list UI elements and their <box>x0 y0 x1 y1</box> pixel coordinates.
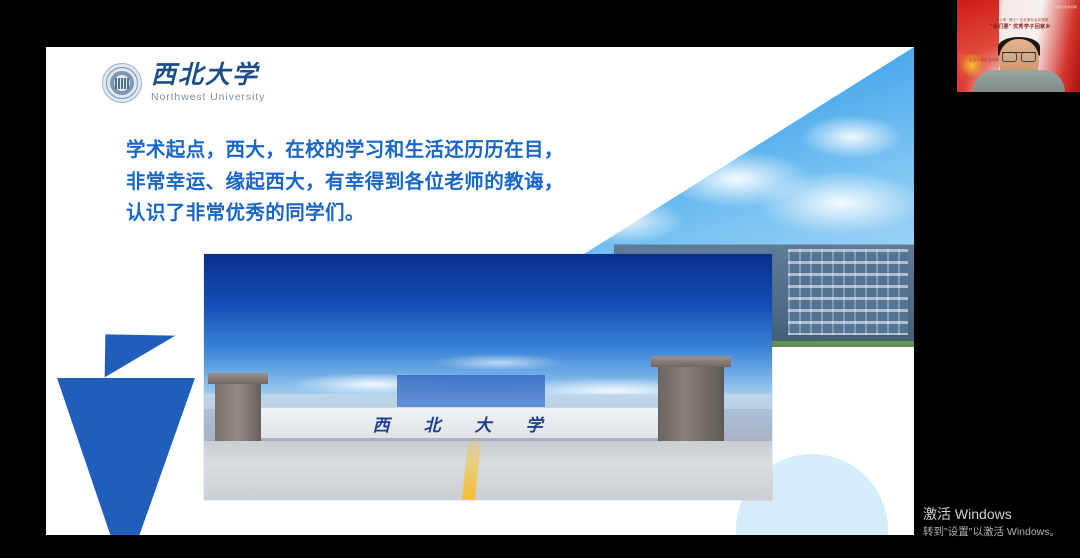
banner-subtitle: 广东公司 "博士+"企业家社会实践团 <box>992 18 1048 22</box>
gate-wall-calligraphy: 西 北 大 学 <box>238 408 681 439</box>
photo-background-building <box>397 375 545 409</box>
northwest-university-seal-icon <box>102 63 142 103</box>
photo-gate-wall: 西 北 大 学 <box>238 407 681 439</box>
gate-char-4: 学 <box>526 411 547 436</box>
gate-char-3: 大 <box>475 411 496 436</box>
university-logo: 西北大学 Northwest University <box>102 63 265 103</box>
campus-gate-photo: 西 北 大 学 <box>204 254 772 500</box>
gate-char-1: 西 <box>373 411 394 436</box>
body-line-1: 学术起点，西大，在校的学习和生活还历历在目， <box>126 135 686 167</box>
watermark-line-2: 转到"设置"以激活 Windows。 <box>923 525 1060 540</box>
windows-activation-watermark: 激活 Windows 转到"设置"以激活 Windows。 <box>923 505 1060 540</box>
presentation-slide[interactable]: 西北大学 Northwest University 学术起点，西大，在校的学习和… <box>46 47 914 535</box>
watermark-line-1: 激活 Windows <box>923 505 1060 523</box>
blue-triangle-large <box>57 378 195 535</box>
banner-title: 广东公司 "博士+"企业家社会实践团 "我们要" 优秀学子回家乡 <box>968 17 1073 33</box>
banner-title-main: "我们要" 优秀学子回家乡 <box>990 24 1051 30</box>
presenter-video-tile[interactable]: 中国石化新闻网 广东公司 "博士+"企业家社会实践团 "我们要" 优秀学子回家乡… <box>957 0 1080 92</box>
screen-share-stage: 西北大学 Northwest University 学术起点，西大，在校的学习和… <box>0 0 1080 558</box>
logo-name-cn: 西北大学 <box>151 63 265 89</box>
blue-triangle-small <box>105 334 176 378</box>
photo-plaza-ground <box>204 441 772 500</box>
photo-gate-pillar-right <box>658 365 724 444</box>
slide-body-text: 学术起点，西大，在校的学习和生活还历历在目， 非常幸运、缘起西大，有幸得到各位老… <box>126 135 686 230</box>
banner-badge: 中国石化新闻网 <box>1055 5 1077 9</box>
body-line-3: 认识了非常优秀的同学们。 <box>126 198 686 230</box>
logo-name-en: Northwest University <box>151 91 265 103</box>
photo-gate-pillar-left <box>215 382 261 444</box>
body-line-2: 非常幸运、缘起西大，有幸得到各位老师的教诲， <box>126 167 686 199</box>
presenter-torso <box>973 70 1065 92</box>
gate-char-2: 北 <box>424 411 445 436</box>
presenter-glasses-icon <box>1002 52 1036 60</box>
